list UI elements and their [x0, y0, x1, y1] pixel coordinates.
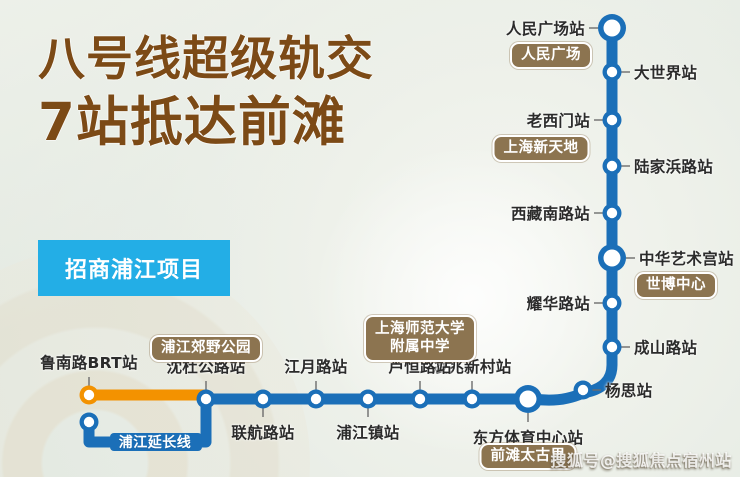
- station-core-luheng-lu: [415, 394, 425, 404]
- poi-badge-3: 浦江郊野公园: [150, 335, 262, 362]
- station-core-laoximen: [607, 115, 617, 125]
- station-marker-ext-terminus[interactable]: [80, 413, 99, 432]
- poi-badge-line: 前滩太古里: [491, 447, 566, 465]
- poi-badge-1: 上海新天地: [493, 135, 590, 162]
- station-label-jiangyue-lu: 江月路站: [284, 355, 347, 377]
- station-core-yaohua-lu: [607, 298, 617, 308]
- station-core-chengshan-lu: [607, 342, 617, 352]
- station-marker-xizang-nanlu[interactable]: [603, 204, 622, 223]
- station-marker-chengshan-lu[interactable]: [603, 338, 622, 357]
- poi-badge-line: 上海新天地: [504, 139, 579, 157]
- metro-line-paths: [89, 28, 635, 451]
- station-marker-lingzhao-xincun[interactable]: [463, 390, 482, 409]
- infographic-root: 八号线超级轨交 7站抵达前滩 招商浦江项目 人民广场站大世界站老西门站陆家浜路站…: [0, 0, 740, 477]
- station-marker-yangsi[interactable]: [574, 381, 593, 400]
- station-core-renmin-guangchang: [604, 20, 621, 37]
- station-label-yaohua-lu: 耀华路站: [527, 292, 590, 314]
- poi-badge-5: 前滩太古里: [480, 443, 577, 470]
- station-label-renmin-guangchang: 人民广场站: [506, 17, 585, 39]
- metro-map-svg: [0, 0, 740, 477]
- station-marker-luheng-lu[interactable]: [411, 390, 430, 409]
- station-core-lingzhao-xincun: [467, 394, 477, 404]
- poi-badge-line: 上海师范大学: [375, 320, 465, 338]
- poi-badge-line: 世博中心: [646, 276, 706, 294]
- station-marker-lunan-lu-brt[interactable]: [80, 386, 99, 405]
- station-core-pujiang-zhen: [363, 394, 373, 404]
- extension-line-label: 浦江延长线: [119, 432, 192, 452]
- station-core-ext-terminus: [84, 417, 94, 427]
- station-core-jiangyue-lu: [311, 394, 321, 404]
- poi-badge-line: 附属中学: [375, 338, 465, 356]
- station-label-dashijie: 大世界站: [634, 61, 697, 83]
- station-label-lianhang-lu: 联航路站: [231, 421, 294, 443]
- station-core-lianhang-lu: [258, 394, 268, 404]
- station-marker-lianhang-lu[interactable]: [254, 390, 273, 409]
- station-core-zhonghua-yishugong: [604, 250, 621, 267]
- station-marker-zhonghua-yishugong[interactable]: [598, 244, 626, 272]
- station-label-zhonghua-yishugong: 中华艺术宫站: [639, 247, 734, 269]
- poi-badge-line: 人民广场: [521, 46, 581, 64]
- station-core-xizang-nanlu: [607, 208, 617, 218]
- station-core-yangsi: [578, 385, 588, 395]
- station-marker-pujiang-zhen[interactable]: [359, 390, 378, 409]
- station-label-yangsi: 杨思站: [605, 379, 652, 401]
- station-core-shendu-gonglu: [201, 394, 211, 404]
- station-marker-dongfang-tiyu[interactable]: [514, 385, 542, 413]
- station-marker-yaohua-lu[interactable]: [603, 294, 622, 313]
- station-core-dashijie: [607, 67, 617, 77]
- poi-badge-4: 上海师范大学附属中学: [364, 315, 476, 362]
- station-label-pujiang-zhen: 浦江镇站: [336, 421, 399, 443]
- poi-badge-line: 浦江郊野公园: [161, 339, 251, 357]
- station-core-lunan-lu-brt: [84, 390, 94, 400]
- station-label-chengshan-lu: 成山路站: [634, 336, 697, 358]
- station-core-dongfang-tiyu: [520, 391, 537, 408]
- station-marker-laoximen[interactable]: [603, 111, 622, 130]
- poi-badge-2: 世博中心: [635, 272, 717, 299]
- station-label-lunan-lu-brt: 鲁南路BRT站: [40, 351, 138, 373]
- station-label-lujiabang-lu: 陆家浜路站: [634, 155, 713, 177]
- poi-badge-0: 人民广场: [510, 42, 592, 69]
- station-marker-dashijie[interactable]: [603, 63, 622, 82]
- station-label-laoximen: 老西门站: [527, 109, 590, 131]
- station-core-lujiabang-lu: [607, 161, 617, 171]
- station-marker-jiangyue-lu[interactable]: [307, 390, 326, 409]
- station-marker-shendu-gonglu[interactable]: [197, 390, 216, 409]
- station-marker-lujiabang-lu[interactable]: [603, 157, 622, 176]
- station-label-xizang-nanlu: 西藏南路站: [511, 202, 590, 224]
- station-marker-renmin-guangchang[interactable]: [598, 14, 626, 42]
